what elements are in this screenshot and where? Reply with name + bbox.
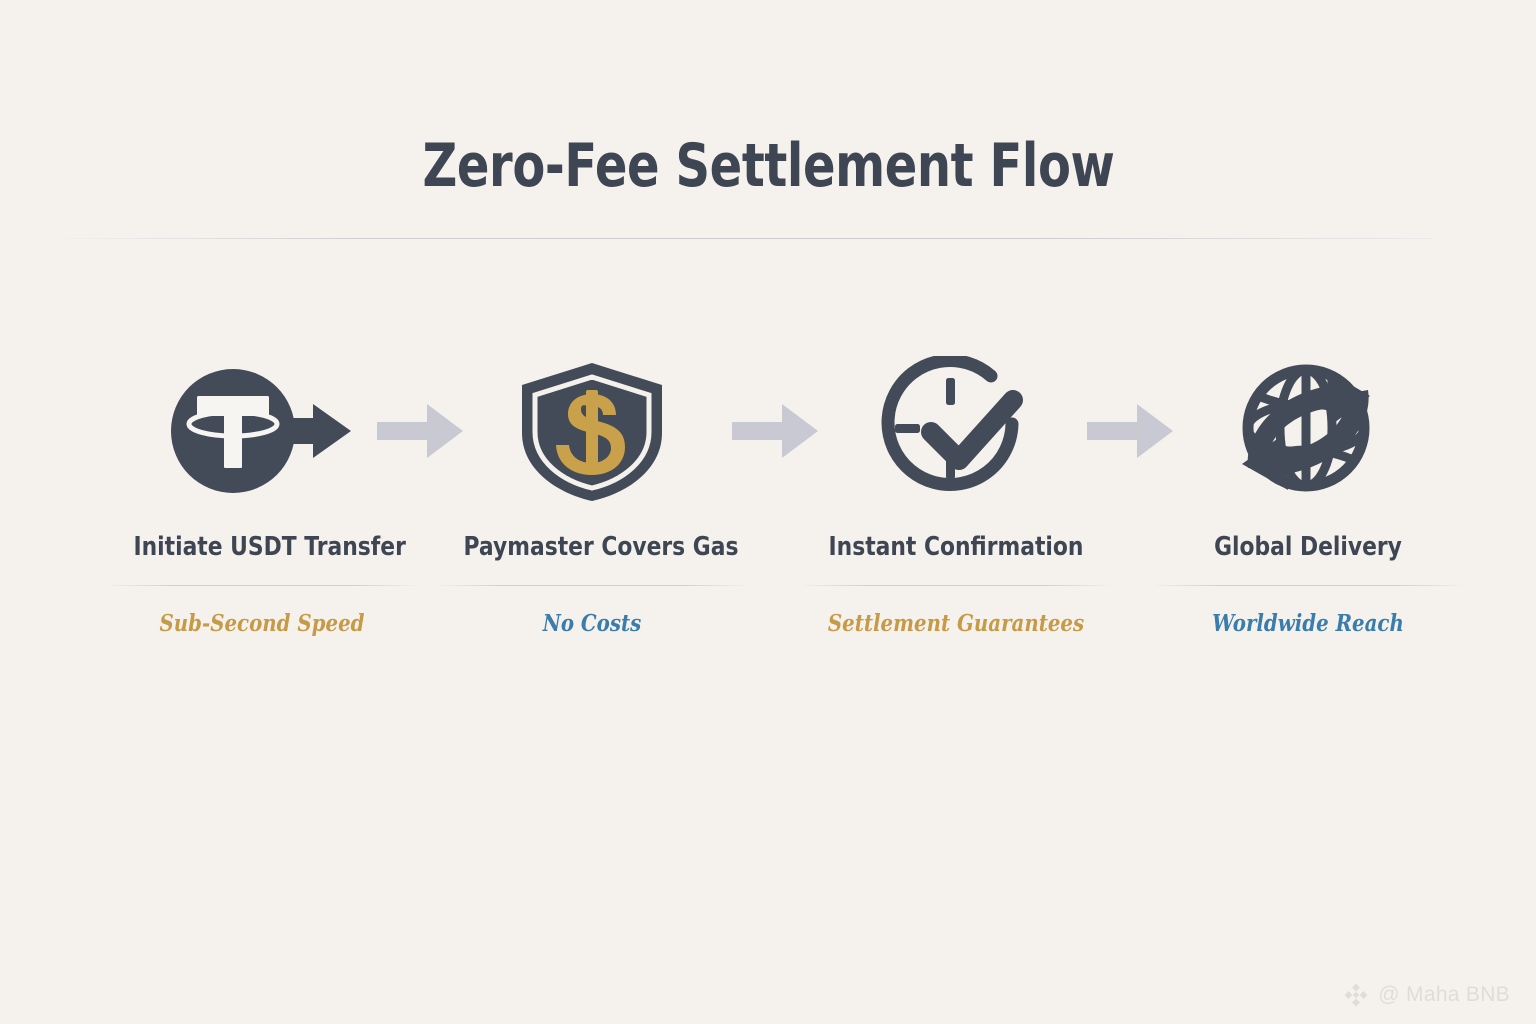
flow-step-divider bbox=[1155, 585, 1461, 586]
arrow-right-icon bbox=[1085, 401, 1175, 461]
arrow-right-icon bbox=[375, 401, 465, 461]
clock-check-icon bbox=[803, 352, 1109, 510]
flow-step-global-delivery[interactable]: Global Delivery Worldwide Reach bbox=[1155, 352, 1461, 672]
bnb-diamond-icon bbox=[1343, 982, 1369, 1008]
page-title: Zero-Fee Settlement Flow bbox=[0, 132, 1536, 201]
flow-step-instant-confirmation[interactable]: Instant Confirmation Settlement Guarante… bbox=[803, 352, 1109, 672]
globe-arrow-icon bbox=[1155, 352, 1461, 510]
flow-step-label: Initiate USDT Transfer bbox=[133, 532, 390, 563]
connector-arrow-3 bbox=[1082, 352, 1178, 510]
flow-steps-row: Initiate USDT Transfer Sub-Second Speed bbox=[52, 352, 1452, 672]
infographic-canvas: Zero-Fee Settlement Flow bbox=[0, 0, 1536, 1024]
title-divider bbox=[52, 238, 1432, 239]
flow-step-divider bbox=[109, 585, 415, 586]
flow-step-divider bbox=[803, 585, 1109, 586]
shield-dollar-icon bbox=[439, 352, 745, 510]
page-title-text: Zero-Fee Settlement Flow bbox=[422, 132, 1114, 201]
connector-arrow-1 bbox=[372, 352, 468, 510]
flow-step-subtitle: No Costs bbox=[460, 610, 723, 637]
watermark-text: @ Maha BNB bbox=[1378, 983, 1510, 1007]
flow-step-divider bbox=[439, 585, 745, 586]
flow-step-label: Global Delivery bbox=[1179, 532, 1436, 563]
flow-step-label: Paymaster Covers Gas bbox=[463, 532, 720, 563]
flow-step-paymaster-covers-gas[interactable]: Paymaster Covers Gas No Costs bbox=[439, 352, 745, 672]
usdt-transfer-icon bbox=[109, 352, 415, 510]
flow-step-initiate-usdt-transfer[interactable]: Initiate USDT Transfer Sub-Second Speed bbox=[109, 352, 415, 672]
flow-step-subtitle: Sub-Second Speed bbox=[130, 610, 393, 637]
flow-step-subtitle: Worldwide Reach bbox=[1176, 610, 1439, 637]
watermark: @ Maha BNB bbox=[1343, 982, 1510, 1008]
connector-arrow-2 bbox=[727, 352, 823, 510]
flow-step-label: Instant Confirmation bbox=[827, 532, 1084, 563]
flow-step-subtitle: Settlement Guarantees bbox=[824, 610, 1087, 637]
arrow-right-icon bbox=[730, 401, 820, 461]
